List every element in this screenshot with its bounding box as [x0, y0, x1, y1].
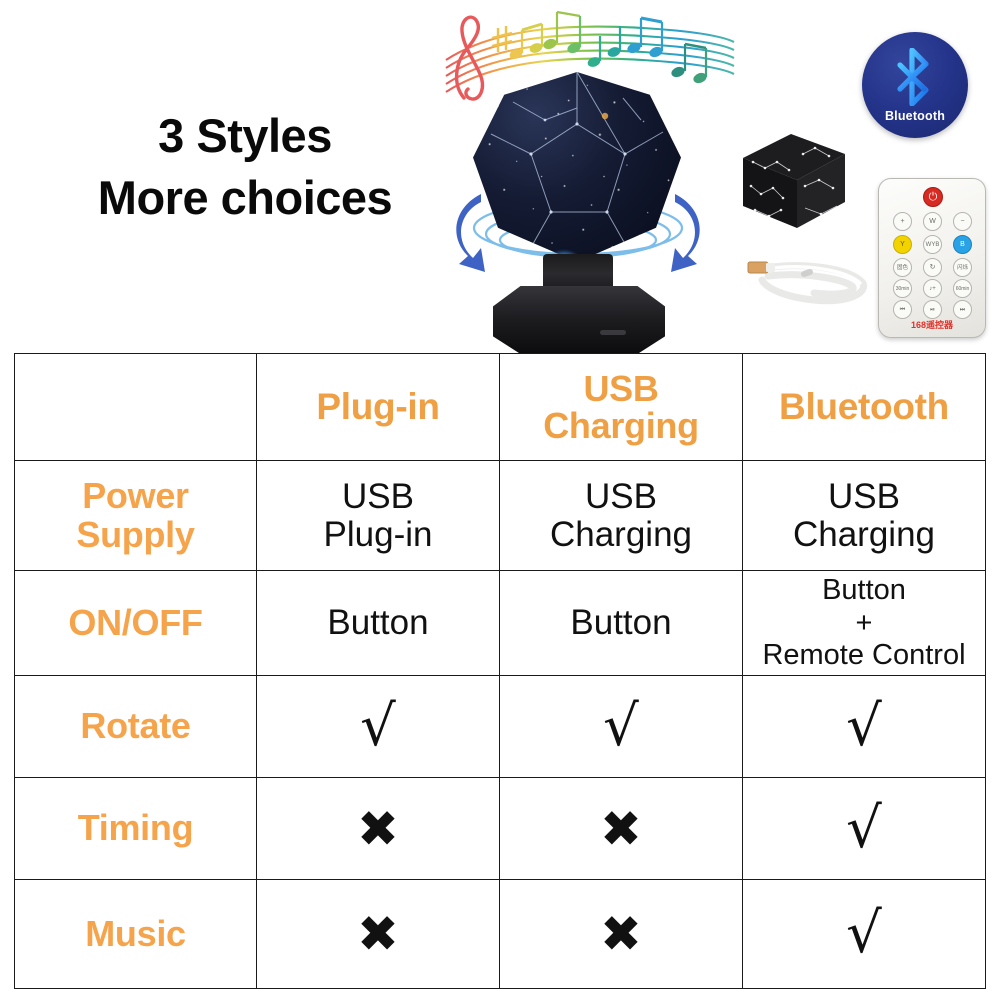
header-label-plugin: Plug-in — [261, 388, 495, 426]
remote-button-timer-30[interactable]: 30min — [893, 279, 912, 298]
cell-onoff-plugin: Button — [257, 571, 500, 676]
projector-base — [493, 286, 665, 354]
usb-cable — [744, 248, 874, 314]
cell-onoff-bt-line1: Button — [747, 574, 981, 606]
table-header-usb-charging: USB Charging — [500, 354, 743, 461]
table-row-timing: Timing ✖ ✖ √ — [15, 778, 986, 880]
remote-button-w[interactable]: W — [923, 212, 942, 231]
cell-power-plugin-line2: Plug-in — [261, 516, 495, 553]
table-row-music: Music ✖ ✖ √ — [15, 880, 986, 989]
cell-rotate-usb: √ — [500, 676, 743, 778]
remote-button-b[interactable]: B — [953, 235, 972, 254]
remote-button-minus[interactable]: − — [953, 212, 972, 231]
remote-button-timer-60[interactable]: 60min — [953, 279, 972, 298]
remote-model-label: 168遥控器 — [879, 318, 985, 331]
cell-timing-usb: ✖ — [500, 778, 743, 880]
page-title: 3 Styles More choices — [55, 105, 435, 229]
bluetooth-badge-label: Bluetooth — [862, 109, 968, 123]
row-label-rotate: Rotate — [15, 676, 257, 778]
mark-timing-usb: ✖ — [504, 804, 738, 854]
mark-rotate-bt: √ — [747, 699, 981, 755]
table-row-rotate: Rotate √ √ √ — [15, 676, 986, 778]
cell-power-usb-line1: USB — [504, 478, 738, 515]
row-label-timing: Timing — [15, 778, 257, 880]
cell-timing-plugin: ✖ — [257, 778, 500, 880]
remote-button-y[interactable]: Y — [893, 235, 912, 254]
comparison-table: Plug-in USB Charging Bluetooth Power Sup… — [14, 353, 986, 989]
remote-button-cycle[interactable]: ↻ — [923, 258, 942, 277]
cell-power-usb-line2: Charging — [504, 516, 738, 553]
table-corner-cell — [15, 354, 257, 461]
cell-music-usb: ✖ — [500, 880, 743, 989]
cell-onoff-bluetooth: Button + Remote Control — [743, 571, 986, 676]
bluetooth-icon — [892, 48, 938, 106]
cell-onoff-bt-plus: + — [747, 607, 981, 639]
infographic-page: 3 Styles More choices — [0, 0, 1000, 1000]
cell-power-usb: USB Charging — [500, 461, 743, 571]
remote-button-plus[interactable]: + — [893, 212, 912, 231]
remote-button-wyb[interactable]: WYB — [923, 235, 942, 254]
cell-power-plugin-line1: USB — [261, 478, 495, 515]
mark-timing-plugin: ✖ — [261, 804, 495, 854]
row-label-onoff: ON/OFF — [15, 571, 257, 676]
usb-port — [600, 330, 626, 335]
table-header-bluetooth: Bluetooth — [743, 354, 986, 461]
mark-music-plugin: ✖ — [261, 909, 495, 959]
bluetooth-badge: Bluetooth — [862, 32, 968, 138]
remote-control: ⏻ + W − Y WYB B 固色 ↻ 闪烁 30min ♪+ 60min ⏮… — [878, 178, 986, 338]
table-header-row: Plug-in USB Charging Bluetooth — [15, 354, 986, 461]
remote-button-flash[interactable]: 闪烁 — [953, 258, 972, 277]
row-label-rotate-text: Rotate — [19, 707, 252, 745]
row-label-power-line2: Supply — [19, 516, 252, 554]
headline-line-2: More choices — [55, 167, 435, 229]
header-label-usb-line1: USB — [504, 370, 738, 407]
headline-line-1: 3 Styles — [55, 105, 435, 167]
cell-onoff-plugin-text: Button — [261, 604, 495, 641]
cell-music-bluetooth: √ — [743, 880, 986, 989]
mark-rotate-plugin: √ — [261, 699, 495, 755]
header-label-usb-line2: Charging — [504, 407, 738, 444]
star-projector-lamp — [455, 72, 700, 352]
cell-power-bt-line1: USB — [747, 478, 981, 515]
table-header-plugin: Plug-in — [257, 354, 500, 461]
remote-button-solid[interactable]: 固色 — [893, 258, 912, 277]
remote-power-button[interactable]: ⏻ — [923, 187, 943, 207]
row-label-timing-text: Timing — [19, 809, 252, 847]
cell-timing-bluetooth: √ — [743, 778, 986, 880]
cell-power-bluetooth: USB Charging — [743, 461, 986, 571]
mark-music-usb: ✖ — [504, 909, 738, 959]
cell-onoff-bt-line2: Remote Control — [747, 639, 981, 671]
remote-button-vol-up[interactable]: ♪+ — [923, 279, 942, 298]
row-label-music: Music — [15, 880, 257, 989]
cell-rotate-plugin: √ — [257, 676, 500, 778]
remote-button-play[interactable]: ⏯ — [923, 300, 942, 319]
row-label-power-supply: Power Supply — [15, 461, 257, 571]
row-label-music-text: Music — [19, 915, 252, 953]
cell-power-bt-line2: Charging — [747, 516, 981, 553]
cell-rotate-bluetooth: √ — [743, 676, 986, 778]
remote-button-next[interactable]: ⏭ — [953, 300, 972, 319]
table-row-power-supply: Power Supply USB Plug-in USB Charging US… — [15, 461, 986, 571]
cell-power-plugin: USB Plug-in — [257, 461, 500, 571]
row-label-power-line1: Power — [19, 477, 252, 515]
mark-music-bt: √ — [747, 906, 981, 962]
table-row-onoff: ON/OFF Button Button Button + Remote Con… — [15, 571, 986, 676]
cell-onoff-usb: Button — [500, 571, 743, 676]
hero-banner: 3 Styles More choices — [0, 0, 1000, 355]
cell-onoff-usb-text: Button — [504, 604, 738, 641]
constellation-gift-box — [733, 124, 855, 232]
cell-music-plugin: ✖ — [257, 880, 500, 989]
header-label-bluetooth: Bluetooth — [747, 388, 981, 426]
mark-timing-bt: √ — [747, 801, 981, 857]
remote-button-prev[interactable]: ⏮ — [893, 300, 912, 319]
row-label-onoff-text: ON/OFF — [19, 604, 252, 642]
mark-rotate-usb: √ — [504, 699, 738, 755]
